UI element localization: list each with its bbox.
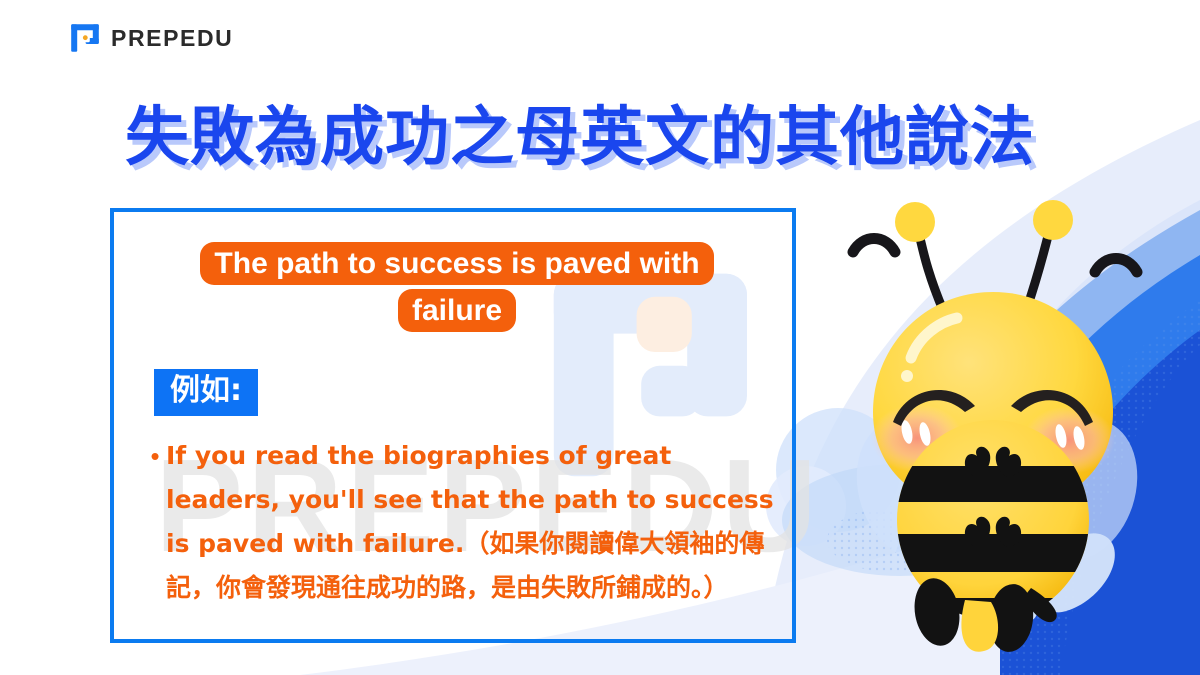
brand-name: PREPEDU (111, 25, 233, 52)
english-phrase-banner: The path to success is paved with failur… (174, 240, 740, 335)
prepedu-logo-icon (70, 23, 100, 53)
content-card: The path to success is paved with failur… (110, 208, 796, 643)
bee-mascot (815, 190, 1185, 660)
bullet-marker-icon: • (144, 434, 166, 610)
english-phrase-text: The path to success is paved with failur… (200, 242, 713, 332)
example-label-badge: 例如: (154, 369, 258, 416)
example-sentence-text: If you read the biographies of great lea… (166, 434, 774, 610)
page-title: 失敗為成功之母英文的其他說法 (0, 86, 1160, 178)
brand-logo: PREPEDU (70, 23, 233, 53)
slide-canvas: PREPEDU PREPEDU 失敗為成功之母英文的其他說法 The path … (0, 0, 1200, 675)
example-sentence-item: • If you read the biographies of great l… (144, 434, 774, 610)
